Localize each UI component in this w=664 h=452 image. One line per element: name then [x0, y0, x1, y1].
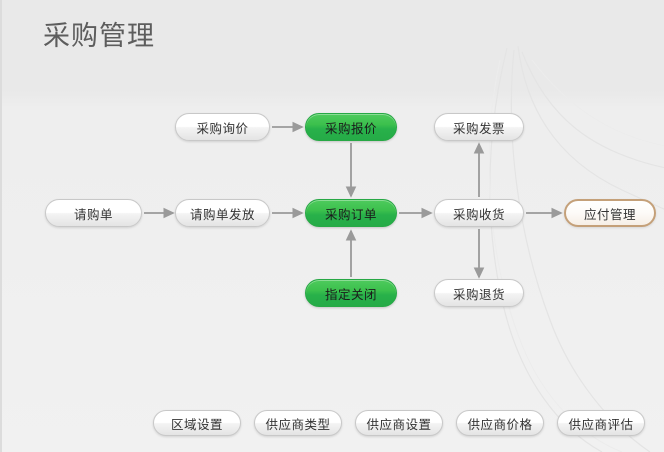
settings-item-region-settings[interactable]: 区域设置: [153, 410, 241, 436]
flow-node-designated-close[interactable]: 指定关闭: [305, 279, 397, 307]
settings-item-supplier-price[interactable]: 供应商价格: [456, 410, 544, 436]
settings-item-label: 供应商设置: [366, 414, 431, 433]
settings-item-supplier-rating[interactable]: 供应商评估: [557, 410, 645, 436]
flow-node-invoice[interactable]: 采购发票: [434, 113, 524, 141]
settings-item-supplier-type[interactable]: 供应商类型: [254, 410, 342, 436]
flow-node-label: 请购单: [74, 204, 113, 223]
settings-item-label: 供应商价格: [467, 414, 532, 433]
purchasing-management-diagram: 采购管理 采购询价: [0, 0, 664, 452]
flow-node-label: 指定关闭: [325, 284, 377, 303]
flow-node-purchase-order[interactable]: 采购订单: [305, 199, 397, 227]
flow-node-label: 应付管理: [584, 204, 636, 223]
settings-item-label: 供应商类型: [265, 414, 330, 433]
flow-node-payable-management[interactable]: 应付管理: [564, 199, 656, 227]
flow-node-quotation[interactable]: 采购报价: [305, 113, 397, 141]
settings-item-label: 区域设置: [171, 414, 223, 433]
page-title: 采购管理: [43, 14, 155, 53]
flow-node-inquiry[interactable]: 采购询价: [175, 113, 270, 141]
flow-node-label: 采购报价: [325, 118, 377, 137]
flow-node-label: 采购询价: [196, 118, 248, 137]
flow-node-receipt[interactable]: 采购收货: [434, 199, 524, 227]
settings-item-label: 供应商评估: [568, 414, 633, 433]
flow-node-label: 采购发票: [453, 118, 505, 137]
flow-node-label: 采购收货: [453, 204, 505, 223]
flow-node-label: 采购订单: [325, 204, 377, 223]
flow-node-requisition[interactable]: 请购单: [45, 199, 142, 227]
settings-item-supplier-settings[interactable]: 供应商设置: [355, 410, 443, 436]
flow-node-requisition-release[interactable]: 请购单发放: [175, 199, 270, 227]
flow-node-label: 请购单发放: [190, 204, 255, 223]
flow-node-label: 采购退货: [453, 284, 505, 303]
flow-node-return[interactable]: 采购退货: [434, 279, 524, 307]
